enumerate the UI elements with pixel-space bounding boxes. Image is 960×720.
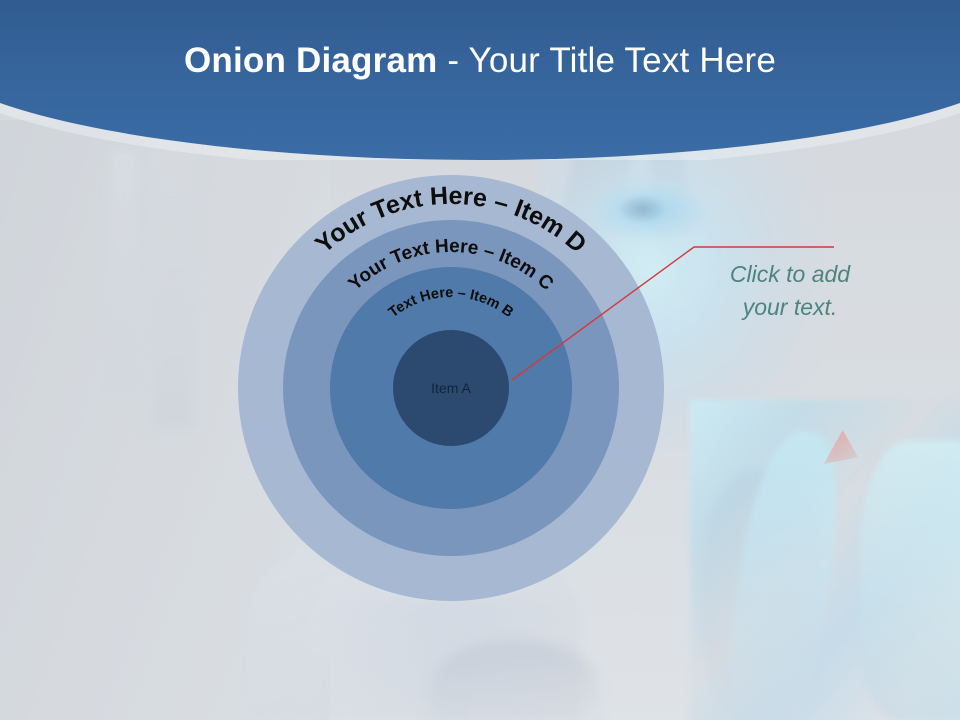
onion-label-a: Item A [393,330,509,446]
page-title-bold: Onion Diagram [184,41,437,80]
onion-diagram[interactable]: Your Text Here – Item D Your Text Here –… [238,175,664,601]
callout-placeholder-text[interactable]: Click to add your text. [690,258,890,324]
callout-text-line-1: Click to add [690,258,890,291]
callout-text-line-2: your text. [690,291,890,324]
page-title-rest: - Your Title Text Here [437,41,776,80]
page-title: Onion Diagram - Your Title Text Here [0,40,960,82]
onion-label-b: Text Here – Item B [386,285,516,321]
slide-canvas: Onion Diagram - Your Title Text Here You… [0,0,960,720]
